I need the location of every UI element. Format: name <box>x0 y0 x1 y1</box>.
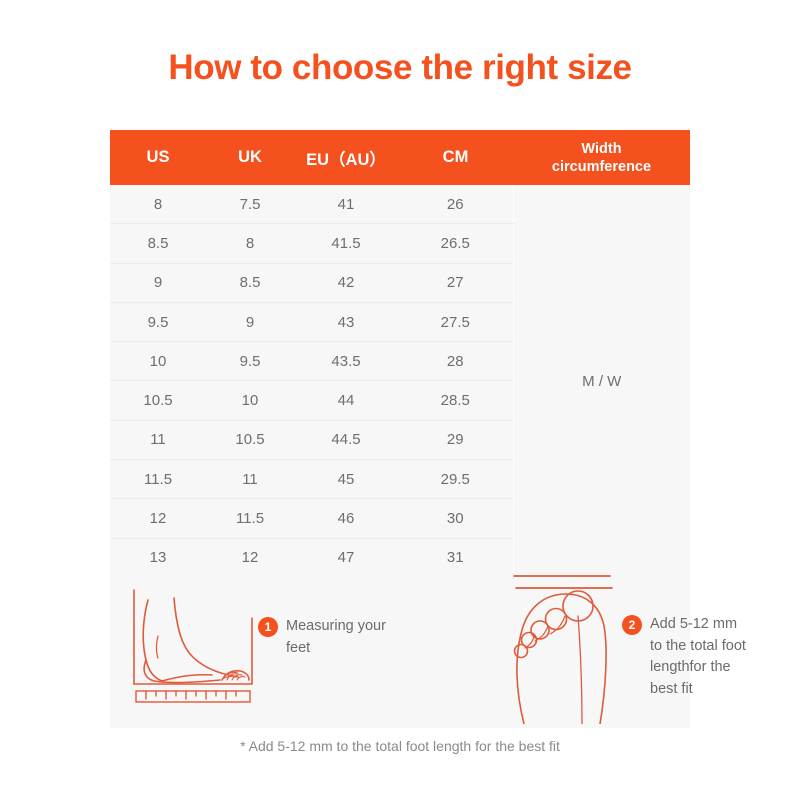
cell-us: 11.5 <box>110 460 206 499</box>
cell-uk: 7.5 <box>206 185 294 224</box>
cell-uk: 8.5 <box>206 263 294 302</box>
cell-eu: 44 <box>294 381 398 420</box>
cell-uk: 10 <box>206 381 294 420</box>
cell-us: 10 <box>110 342 206 381</box>
column-header-width-circumference: Width circumference <box>513 130 690 185</box>
cell-eu: 45 <box>294 460 398 499</box>
cell-eu: 43.5 <box>294 342 398 381</box>
cell-us: 8.5 <box>110 224 206 263</box>
measuring-instructions-panel: 1 Measuring your feet <box>110 574 690 728</box>
cell-us: 8 <box>110 185 206 224</box>
footnote: * Add 5-12 mm to the total foot length f… <box>0 738 800 754</box>
column-header-cm: CM <box>398 130 513 185</box>
cell-cm: 31 <box>398 538 513 577</box>
cell-eu: 47 <box>294 538 398 577</box>
column-header-uk: UK <box>206 130 294 185</box>
cell-us: 9 <box>110 263 206 302</box>
cell-us: 12 <box>110 499 206 538</box>
column-header-eu-au: EU（AU） <box>294 130 398 185</box>
cell-uk: 11 <box>206 460 294 499</box>
cell-eu: 43 <box>294 302 398 341</box>
step-1-text: Measuring your feet <box>286 616 390 659</box>
cell-eu: 44.5 <box>294 420 398 459</box>
cell-eu: 46 <box>294 499 398 538</box>
foot-side-view-with-ruler-icon <box>128 588 258 708</box>
cell-eu: 41 <box>294 185 398 224</box>
cell-cm: 30 <box>398 499 513 538</box>
cell-cm: 28.5 <box>398 381 513 420</box>
step-2-block: 2 Add 5-12 mm to the total foot lengthfo… <box>400 574 690 728</box>
width-header-line-2: circumference <box>513 158 690 176</box>
cell-cm: 28 <box>398 342 513 381</box>
step-2-badge: 2 <box>622 615 642 635</box>
cell-width-circumference: M / W <box>513 185 690 577</box>
width-header-line-1: Width <box>513 140 690 158</box>
cell-us: 10.5 <box>110 381 206 420</box>
step-1-badge: 1 <box>258 617 278 637</box>
table-header-row: US UK EU（AU） CM Width circumference <box>110 130 690 185</box>
cell-cm: 27.5 <box>398 302 513 341</box>
page-title: How to choose the right size <box>0 46 800 90</box>
cell-eu: 41.5 <box>294 224 398 263</box>
cell-us: 13 <box>110 538 206 577</box>
step-1-block: 1 Measuring your feet <box>110 574 400 728</box>
cell-us: 11 <box>110 420 206 459</box>
cell-uk: 11.5 <box>206 499 294 538</box>
cell-cm: 26.5 <box>398 224 513 263</box>
cell-cm: 29.5 <box>398 460 513 499</box>
cell-uk: 8 <box>206 224 294 263</box>
cell-uk: 12 <box>206 538 294 577</box>
size-chart-table: US UK EU（AU） CM Width circumference 8 7.… <box>110 130 690 578</box>
step-2: 2 Add 5-12 mm to the total foot lengthfo… <box>622 614 750 700</box>
cell-cm: 29 <box>398 420 513 459</box>
foot-top-view-with-toes-icon <box>508 572 616 724</box>
step-2-text: Add 5-12 mm to the total foot lengthfor … <box>650 614 750 700</box>
column-header-us: US <box>110 130 206 185</box>
cell-uk: 9.5 <box>206 342 294 381</box>
cell-us: 9.5 <box>110 302 206 341</box>
cell-cm: 26 <box>398 185 513 224</box>
table-row: 8 7.5 41 26 M / W <box>110 185 690 224</box>
step-1: 1 Measuring your feet <box>258 616 390 659</box>
cell-uk: 10.5 <box>206 420 294 459</box>
cell-eu: 42 <box>294 263 398 302</box>
cell-uk: 9 <box>206 302 294 341</box>
cell-cm: 27 <box>398 263 513 302</box>
